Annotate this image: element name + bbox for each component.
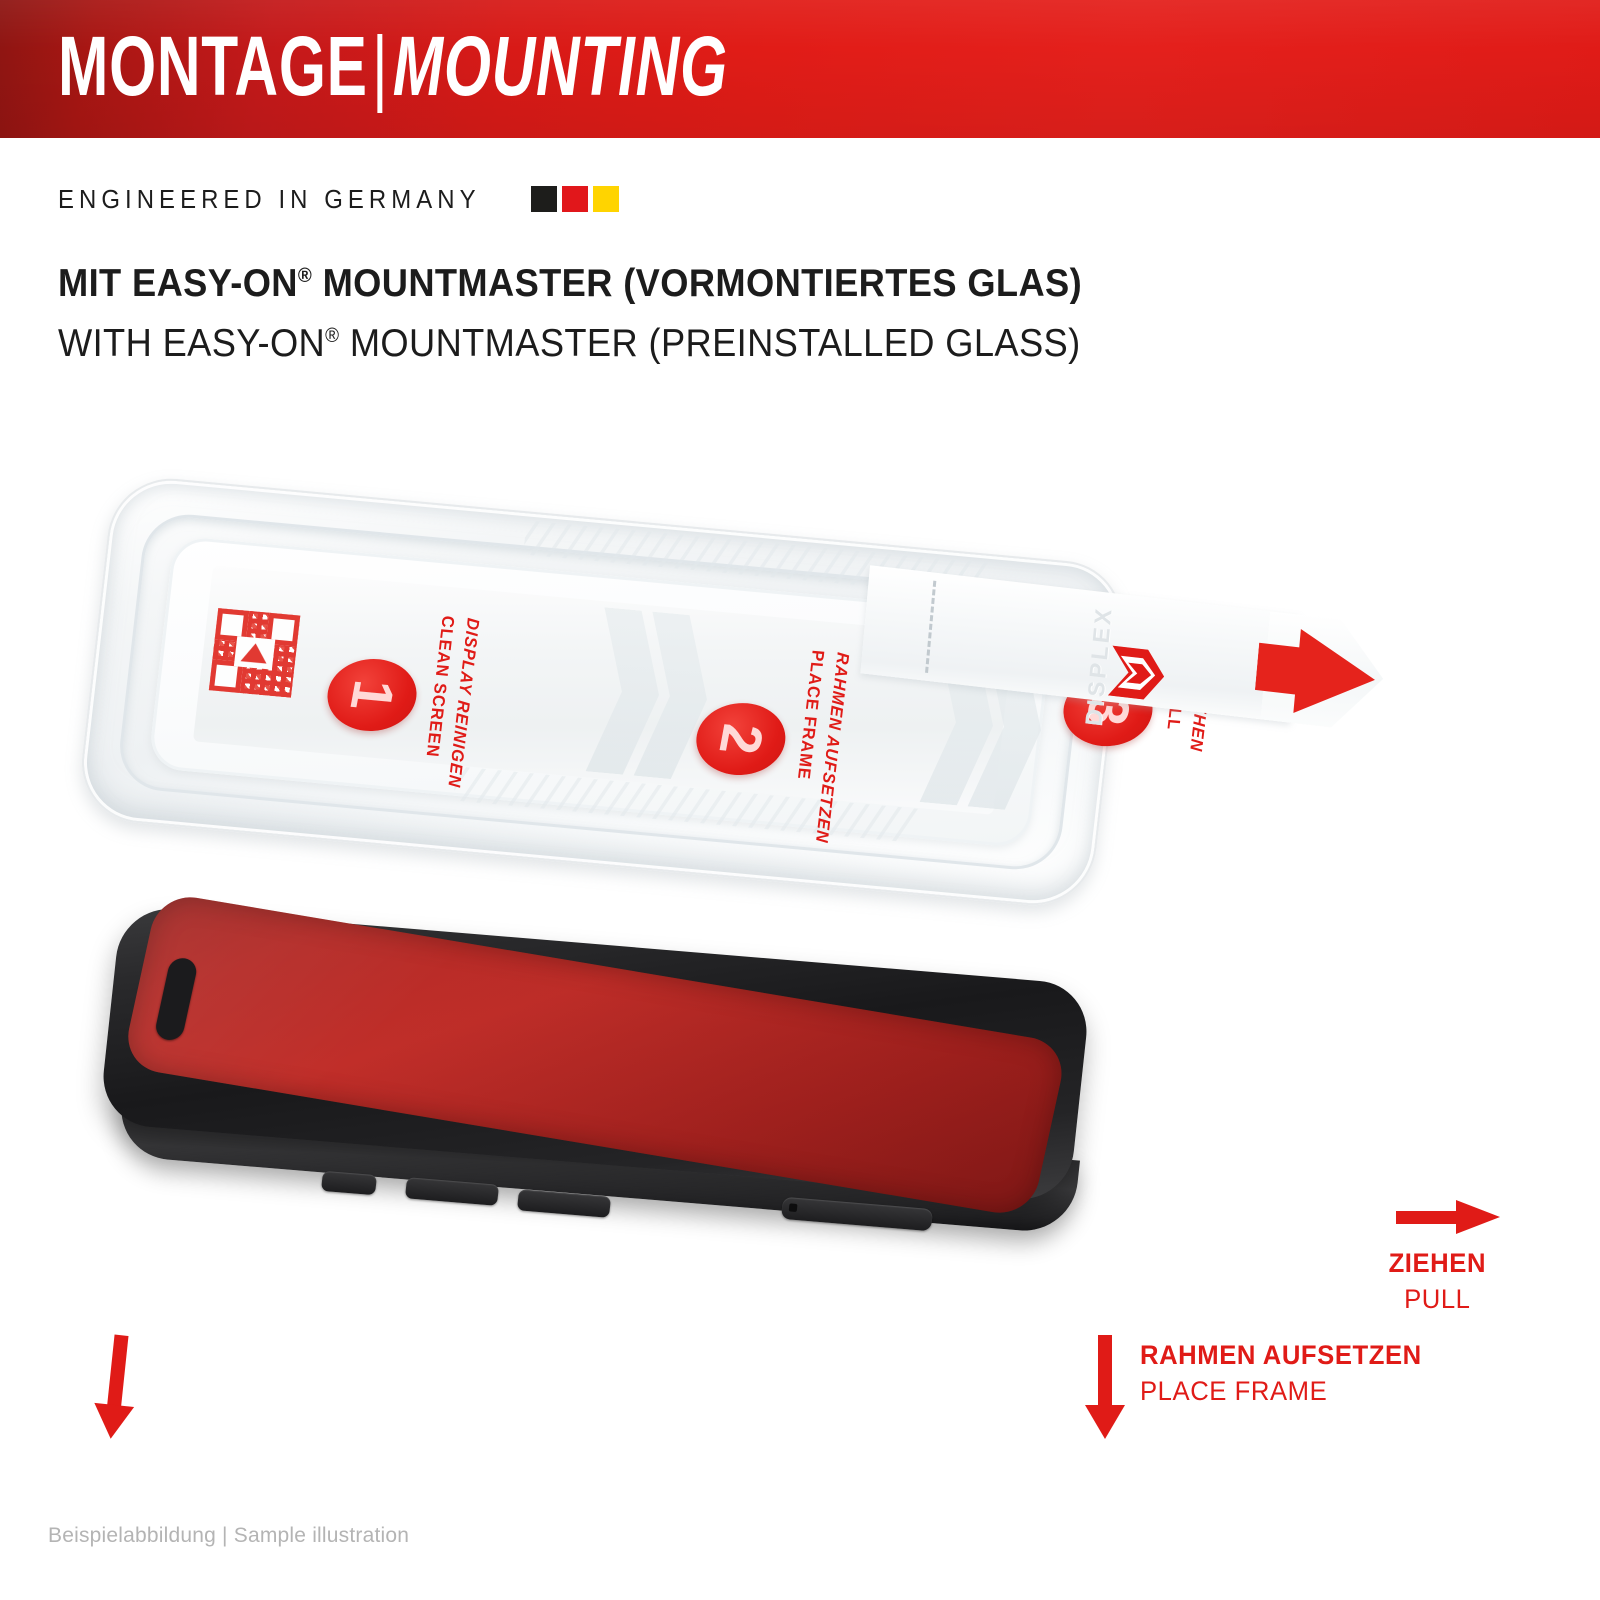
place-frame-arrow-right-icon: [1085, 1335, 1125, 1441]
engineered-label: ENGINEERED IN GERMANY: [58, 184, 481, 215]
step-1-labels: CLEAN SCREEN DISPLAY REINIGEN: [418, 612, 488, 792]
engineered-in-germany: ENGINEERED IN GERMANY: [58, 183, 619, 215]
callout-pull-en: PULL: [1389, 1284, 1486, 1315]
headline-en-before: WITH EASY-ON: [58, 322, 325, 365]
page-header: MONTAGE|MOUNTING: [0, 0, 1600, 138]
callout-place-frame-de: RAHMEN AUFSETZEN: [1140, 1340, 1422, 1371]
callout-place-frame-en: PLACE FRAME: [1140, 1376, 1422, 1407]
place-frame-arrow-left-icon: [91, 1333, 142, 1443]
easy-on-applicator-tray: 1 CLEAN SCREEN DISPLAY REINIGEN 2 PLACE …: [95, 520, 1105, 880]
headline-en: WITH EASY-ON® MOUNTMASTER (PREINSTALLED …: [58, 322, 1081, 366]
sample-illustration-note: Beispielabbildung | Sample illustration: [48, 1524, 409, 1548]
headline-de-after: MOUNTMASTER (VORMONTIERTES GLAS): [312, 262, 1082, 305]
phone-action-button[interactable]: [321, 1171, 377, 1195]
headline-de-before: MIT EASY-ON: [58, 262, 298, 305]
flag-swatch-black: [531, 186, 557, 212]
smartphone: [110, 945, 1110, 1265]
flag-swatch-gold: [593, 186, 619, 212]
page-title-separator: |: [368, 19, 393, 113]
headline-en-after: MOUNTMASTER (PREINSTALLED GLASS): [339, 322, 1080, 365]
callout-pull: ZIEHEN PULL: [1386, 1248, 1489, 1315]
qr-code-icon[interactable]: [209, 608, 300, 698]
flag-swatch-red: [562, 186, 588, 212]
qr-center-triangle-icon: [240, 642, 268, 663]
headline-en-registered: ®: [325, 325, 339, 347]
headline-de: MIT EASY-ON® MOUNTMASTER (VORMONTIERTES …: [58, 262, 1082, 306]
step-2-number-badge: 2: [690, 700, 791, 780]
callout-pull-de: ZIEHEN: [1389, 1248, 1486, 1279]
page-title: MONTAGE|MOUNTING: [58, 16, 728, 116]
callout-place-frame: RAHMEN AUFSETZEN PLACE FRAME: [1140, 1340, 1437, 1407]
step-1-number: 1: [341, 677, 403, 712]
step-2-number: 2: [710, 722, 772, 757]
german-flag-icon: [531, 186, 619, 212]
page-title-en: MOUNTING: [393, 19, 728, 113]
mounting-illustration: 1 CLEAN SCREEN DISPLAY REINIGEN 2 PLACE …: [0, 420, 1600, 1370]
headline-de-registered: ®: [298, 265, 312, 287]
step-1: 1 CLEAN SCREEN DISPLAY REINIGEN: [318, 603, 488, 792]
displex-brand: DISPLEX: [1080, 605, 1170, 734]
step-1-number-badge: 1: [321, 655, 422, 735]
displex-logo-icon: [1108, 645, 1167, 701]
page-title-de: MONTAGE: [58, 19, 368, 113]
step-2: 2 PLACE FRAME RAHMEN AUFSETZEN: [686, 637, 859, 848]
pull-direction-arrow-icon: [1396, 1200, 1500, 1234]
